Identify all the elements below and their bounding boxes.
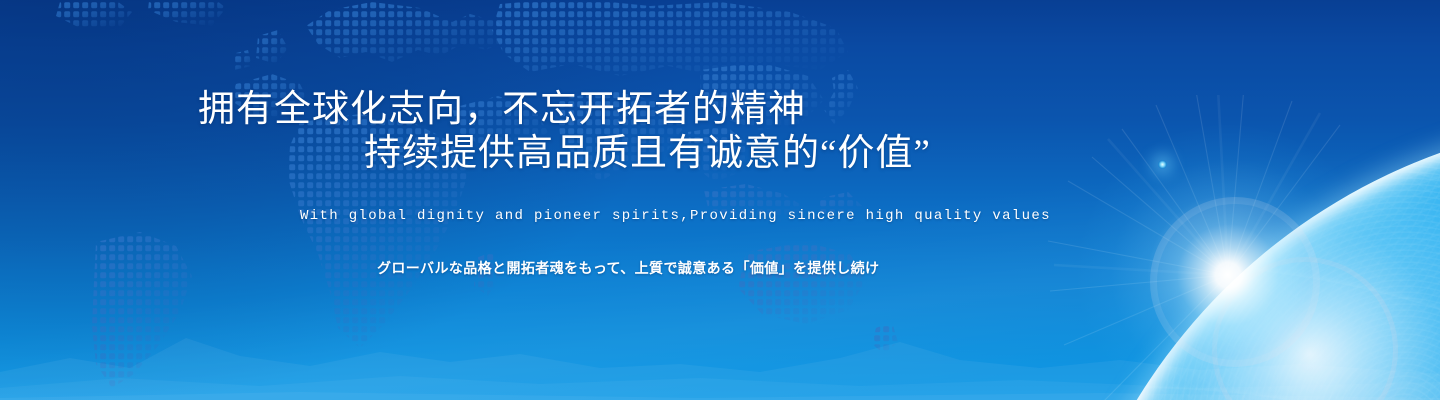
hero-banner: 拥有全球化志向，不忘开拓者的精神 持续提供高品质且有诚意的“价值” With g… [0,0,1440,400]
subline-japanese: グローバルな品格と開拓者魂をもって、上質で誠意ある「価値」を提供し続け [377,259,879,279]
subline-english: With global dignity and pioneer spirits,… [300,206,1051,226]
headline-line-2: 持续提供高品质且有诚意的“价值” [364,132,931,176]
banner-copy: 拥有全球化志向，不忘开拓者的精神 持续提供高品质且有诚意的“价值” With g… [0,0,1440,400]
headline-line-1: 拥有全球化志向，不忘开拓者的精神 [198,88,806,132]
